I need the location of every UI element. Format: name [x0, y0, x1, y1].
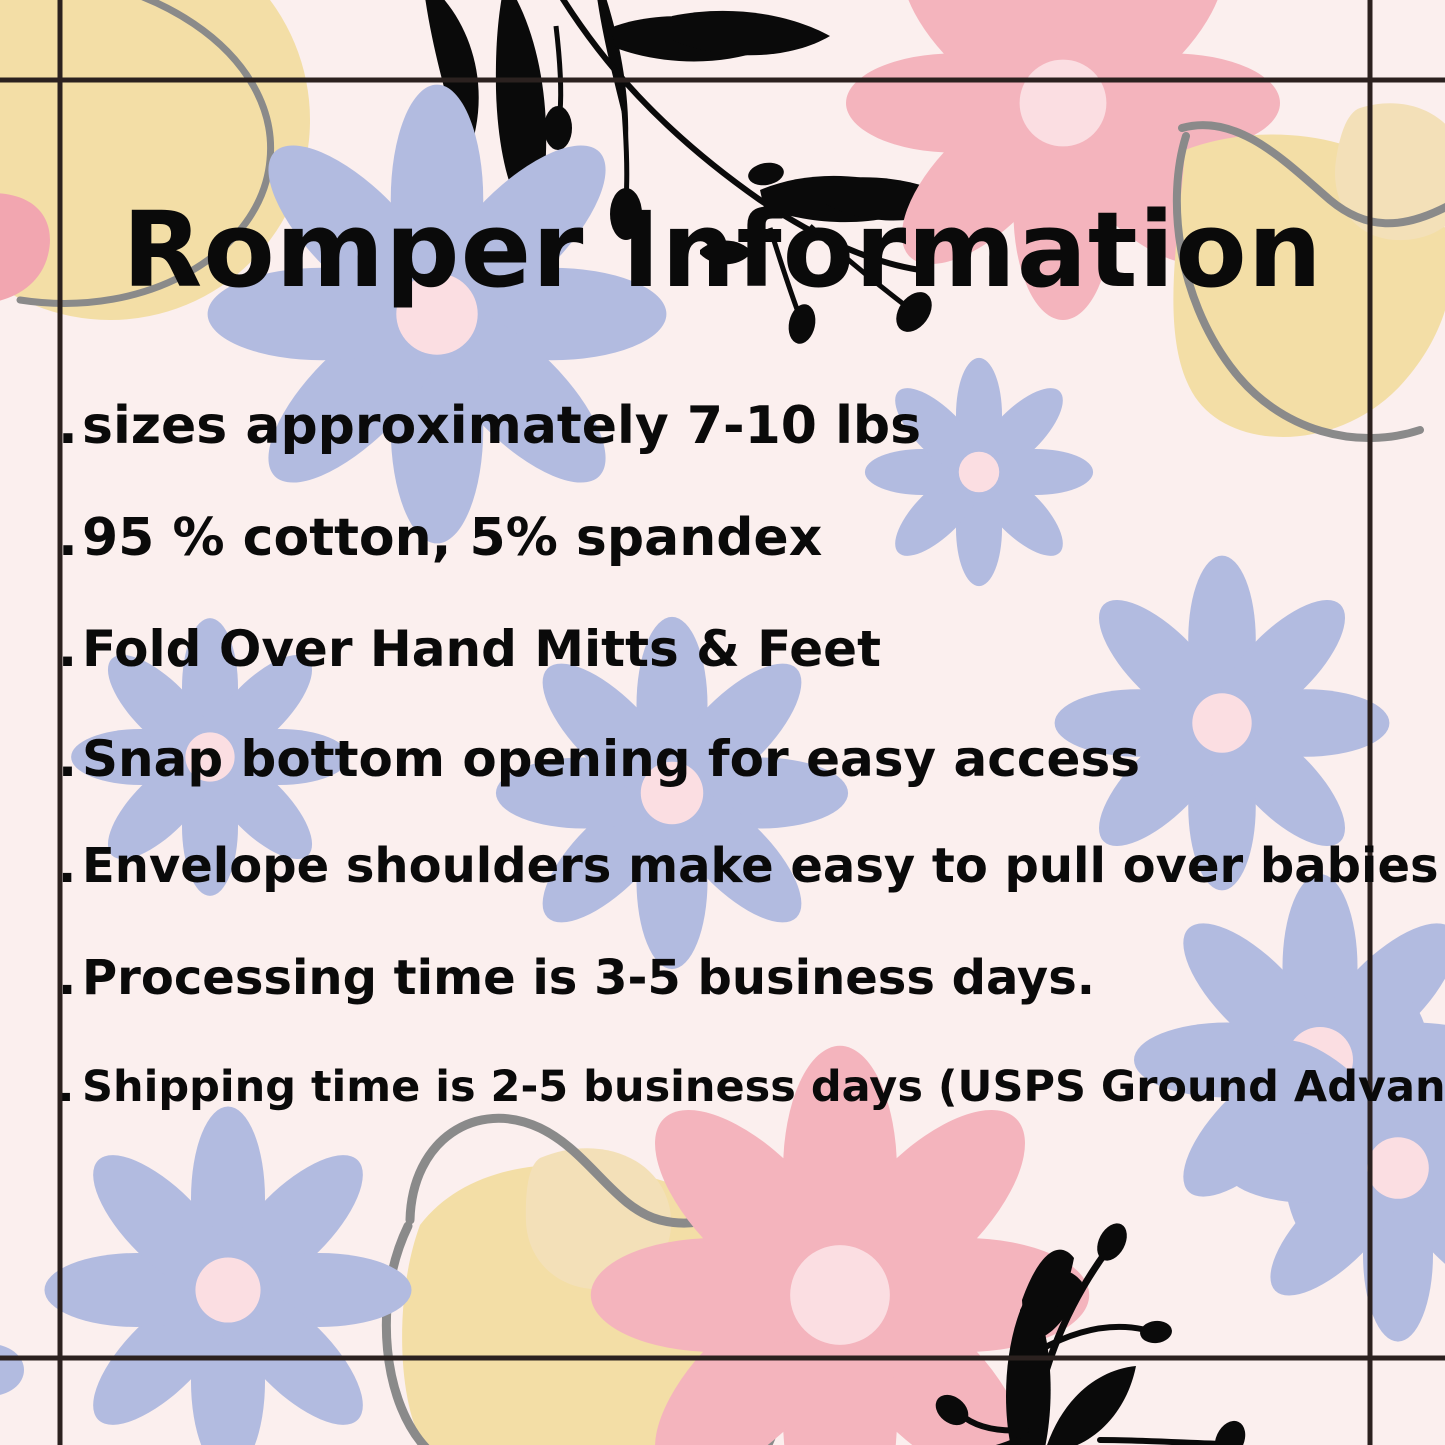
- decorative-artwork: [0, 0, 1445, 1445]
- poster-canvas: Romper Information . sizes approximately…: [0, 0, 1445, 1445]
- periwinkle-flower-title-left: [208, 85, 667, 544]
- periwinkle-flower-small-upper-right: [865, 358, 1093, 586]
- periwinkle-flower-right-mid: [1055, 556, 1390, 891]
- periwinkle-flower-center: [496, 617, 848, 969]
- periwinkle-flower-left-mid: [71, 618, 349, 896]
